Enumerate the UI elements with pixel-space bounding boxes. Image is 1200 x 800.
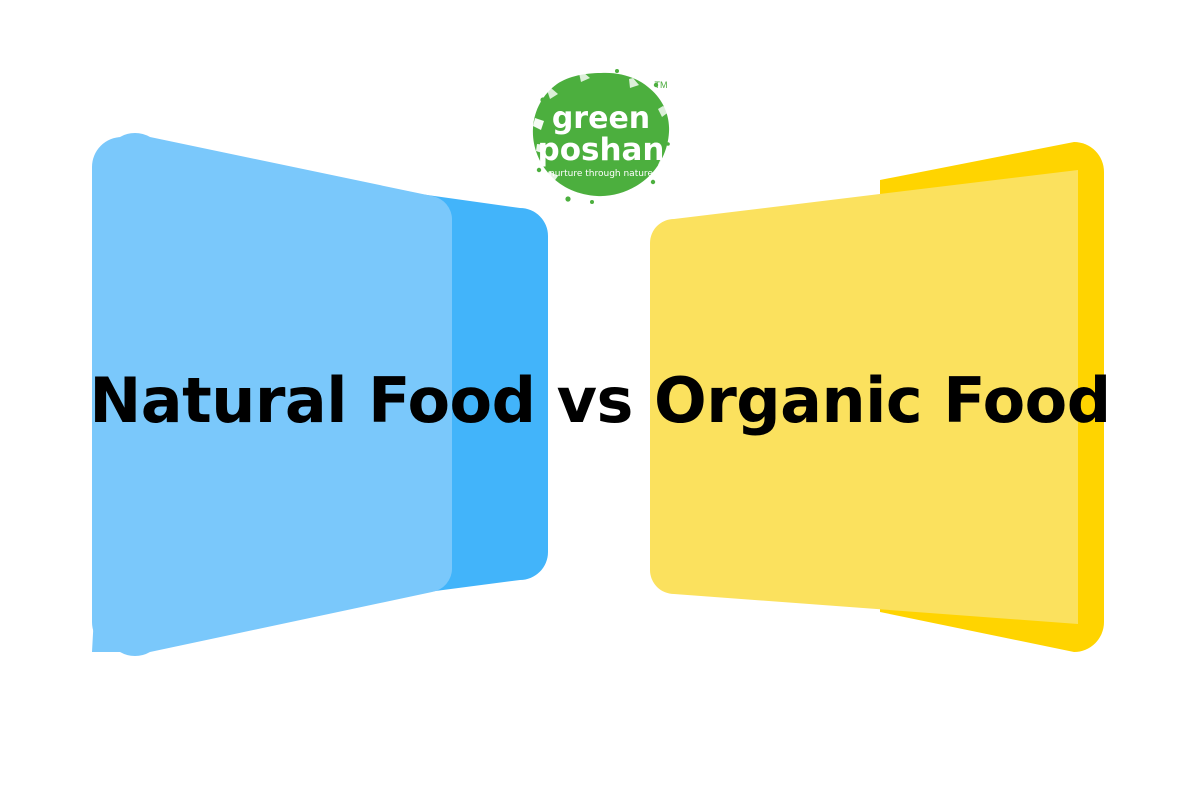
right-panel-front-shape <box>650 170 1078 624</box>
trademark-symbol: TM <box>655 80 668 90</box>
banner-canvas: green poshan nurture through nature TM N… <box>0 0 1200 800</box>
brand-logo[interactable]: green poshan nurture through nature TM <box>521 66 681 206</box>
logo-tagline: nurture through nature <box>549 169 653 179</box>
logo-word-green: green <box>552 101 650 136</box>
left-panel-front-body <box>92 137 452 652</box>
logo-word-poshan: poshan <box>538 132 665 168</box>
